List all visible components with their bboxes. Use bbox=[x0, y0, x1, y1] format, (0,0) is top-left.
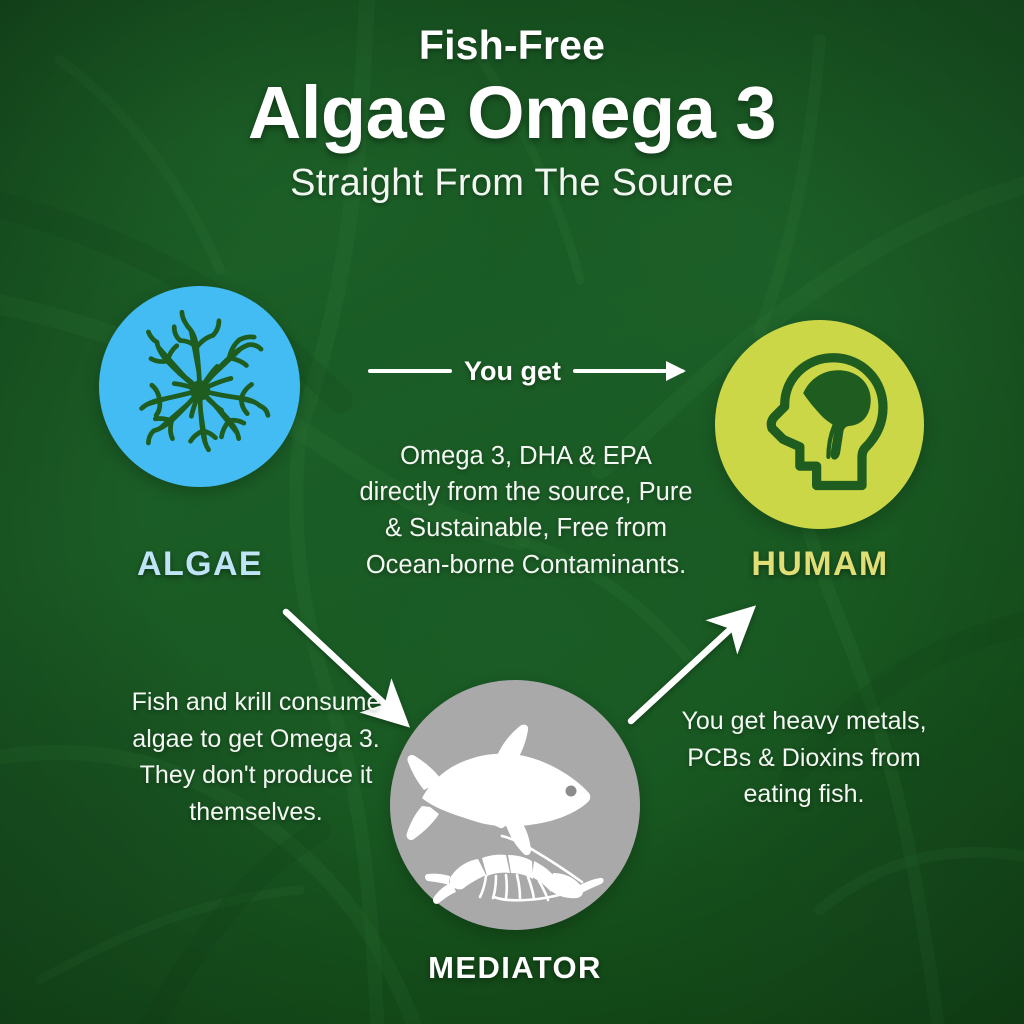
page-subtitle: Straight From The Source bbox=[0, 163, 1024, 205]
head-brain-icon bbox=[736, 341, 904, 509]
you-get-connector: You get bbox=[368, 352, 684, 390]
infographic-canvas: Fish-Free Algae Omega 3 Straight From Th… bbox=[0, 0, 1024, 1024]
connector-line-left bbox=[368, 369, 452, 373]
left-description: Fish and krill consume algae to get Omeg… bbox=[130, 684, 382, 830]
mediator-node-label: MEDIATOR bbox=[355, 950, 675, 986]
page-title: Algae Omega 3 bbox=[0, 73, 1024, 153]
right-description: You get heavy metals, PCBs & Dioxins fro… bbox=[666, 703, 942, 813]
center-description: Omega 3, DHA & EPA directly from the sou… bbox=[358, 438, 694, 583]
you-get-label: You get bbox=[464, 356, 561, 387]
algae-node-circle[interactable] bbox=[99, 286, 300, 487]
mediator-node-circle[interactable] bbox=[390, 680, 640, 930]
arrow-right-icon bbox=[573, 369, 684, 373]
human-node-circle[interactable] bbox=[715, 320, 924, 529]
algae-node-label: ALGAE bbox=[40, 545, 360, 584]
kicker-text: Fish-Free bbox=[0, 24, 1024, 67]
seaweed-icon bbox=[114, 301, 286, 473]
human-node-label: HUMAM bbox=[660, 545, 980, 584]
header-block: Fish-Free Algae Omega 3 Straight From Th… bbox=[0, 24, 1024, 205]
fish-shrimp-icon bbox=[390, 680, 640, 930]
